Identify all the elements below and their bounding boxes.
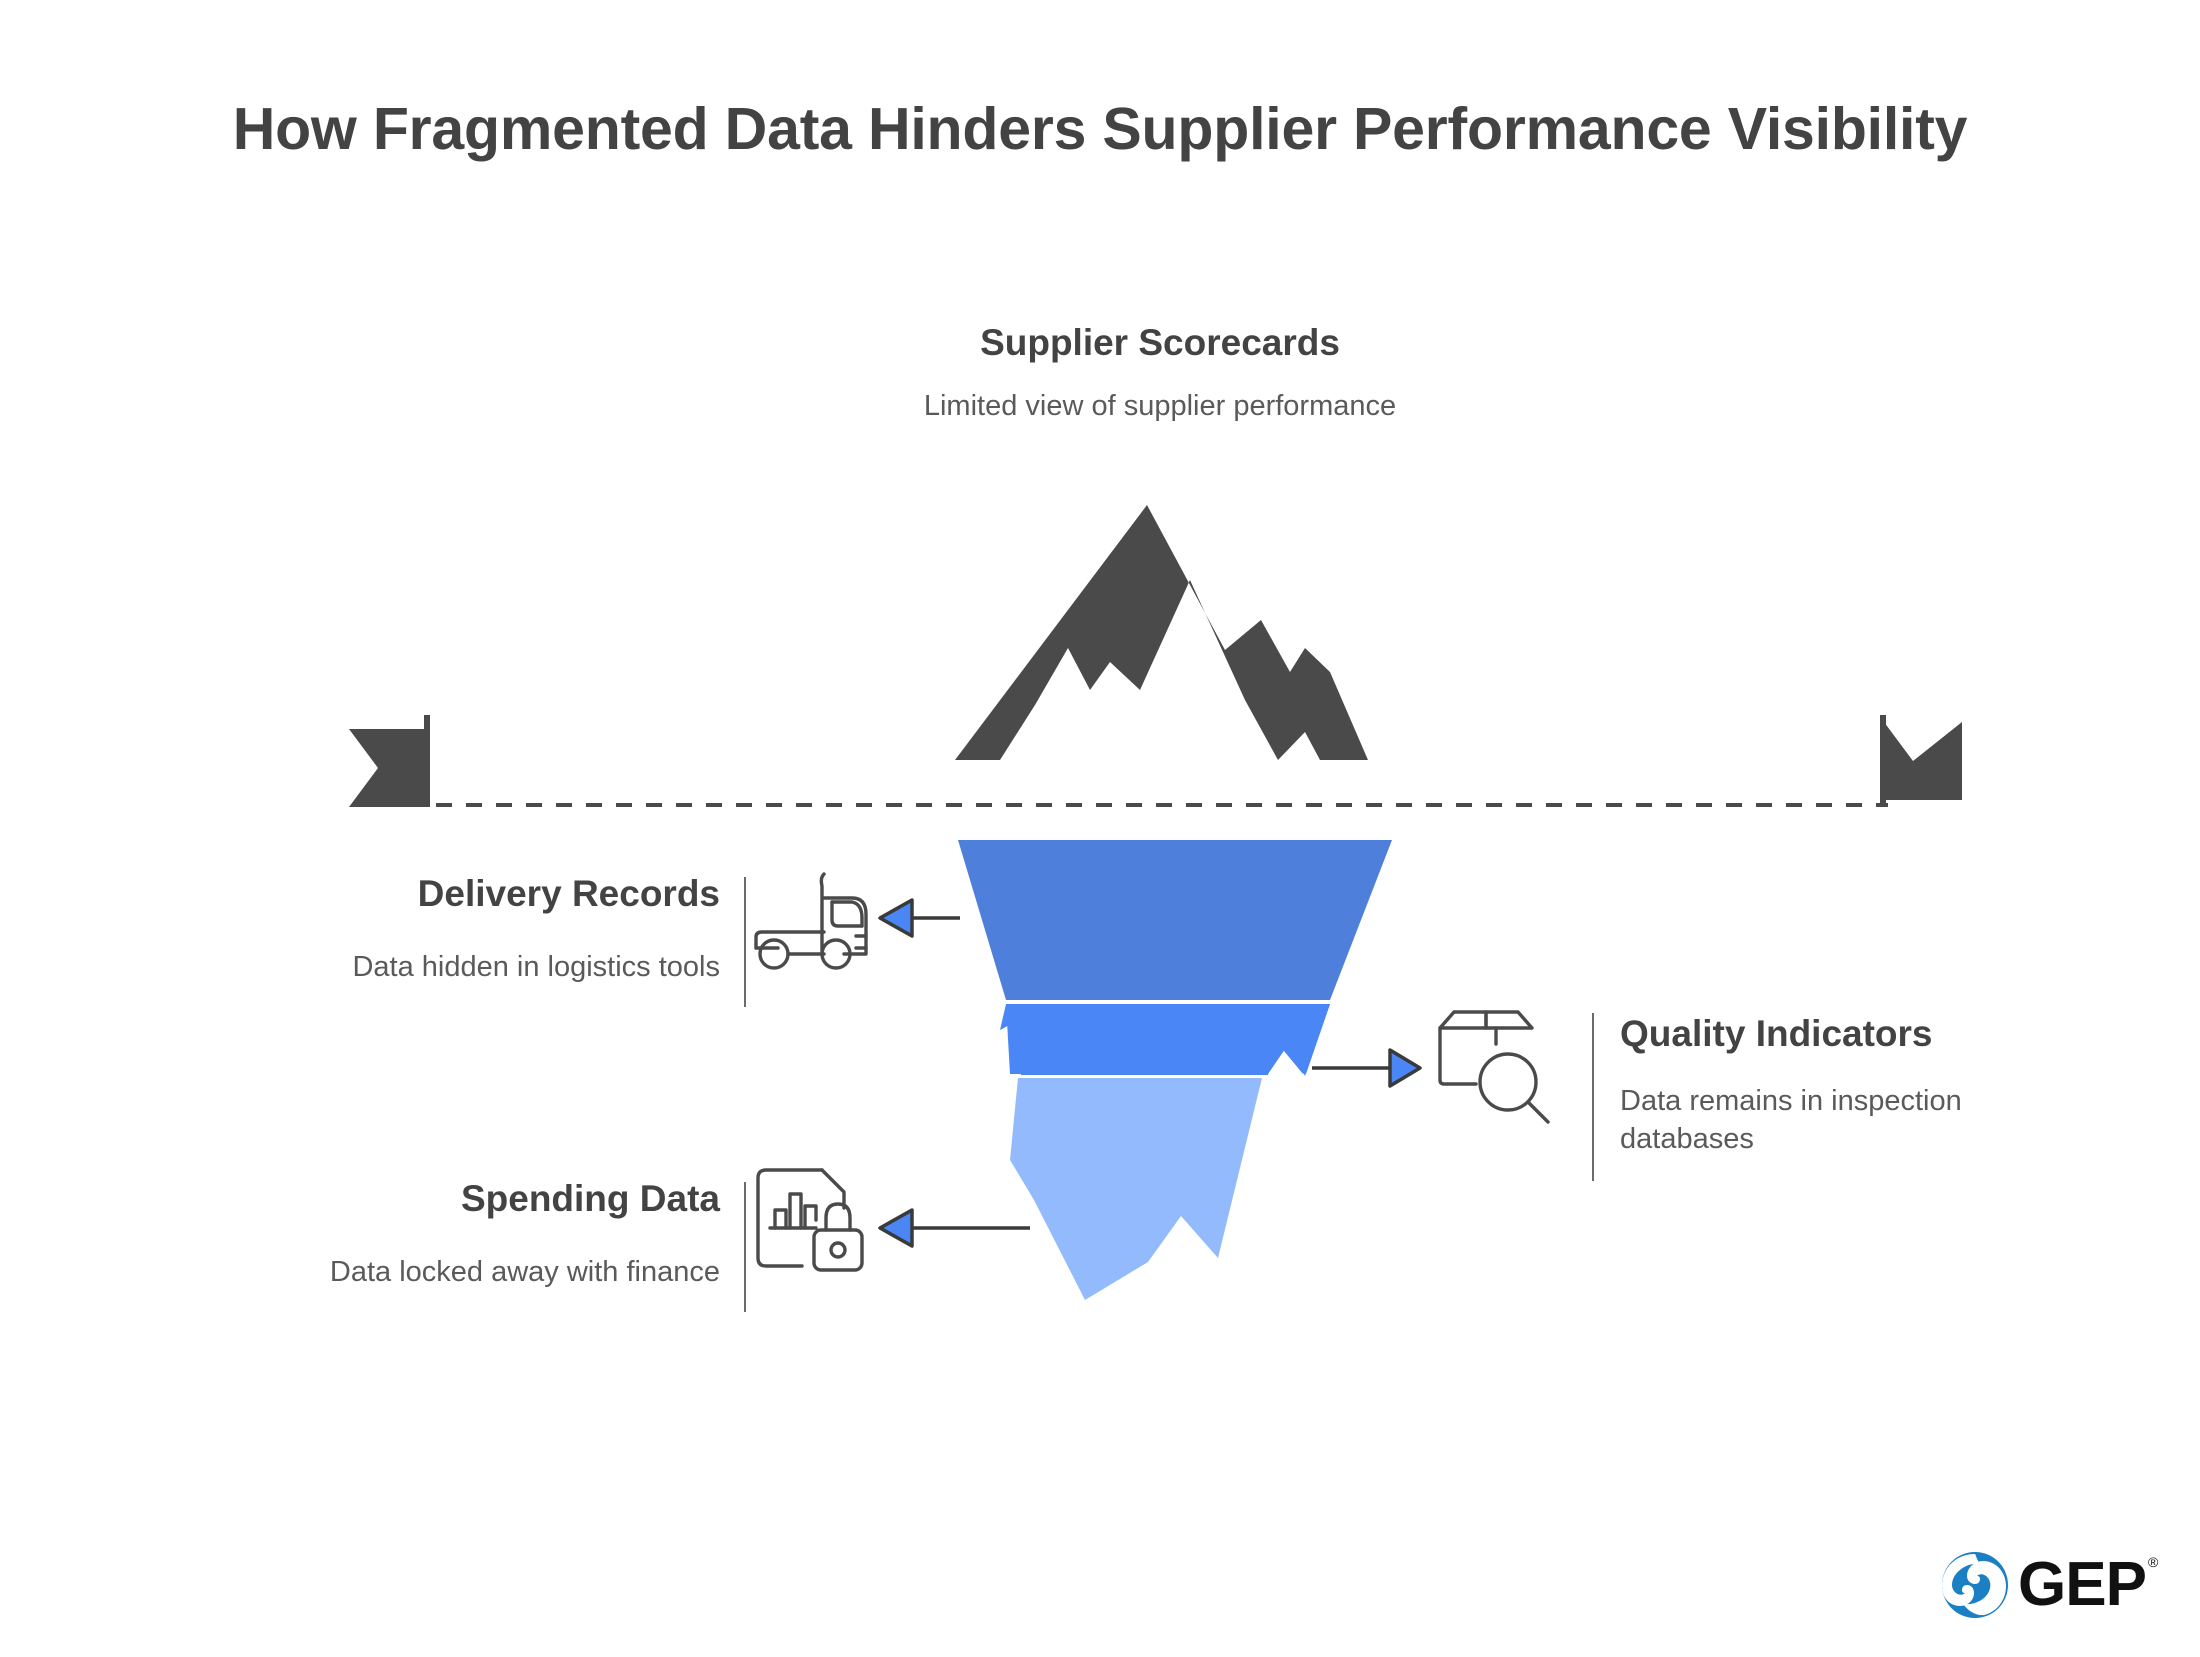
iceberg-band-delivery <box>958 840 1392 1000</box>
flag-right <box>1880 715 1962 807</box>
delivery-divider <box>744 877 746 1007</box>
document-lock-icon <box>748 1162 898 1302</box>
iceberg-band-spending <box>1010 1078 1262 1300</box>
iceberg-band-quality <box>1006 1004 1330 1074</box>
iceberg-band-quality-shape <box>1006 1004 1330 1074</box>
truck-icon <box>748 862 898 997</box>
box-search-icon <box>1432 1000 1582 1145</box>
flag-left <box>349 715 430 807</box>
supplier-scorecards-description: Limited view of supplier performance <box>810 387 1510 425</box>
gep-wordmark: GEP <box>2018 1554 2146 1616</box>
page-title: How Fragmented Data Hinders Supplier Per… <box>0 95 2200 163</box>
label-supplier-scorecards: Supplier Scorecards Limited view of supp… <box>810 322 1510 425</box>
label-delivery-records: Delivery Records Data hidden in logistic… <box>200 873 720 986</box>
spending-data-description: Data locked away with finance <box>200 1253 720 1291</box>
mountain-icon <box>955 505 1368 760</box>
label-quality-indicators: Quality Indicators Data remains in inspe… <box>1620 1013 2100 1158</box>
quality-indicators-description: Data remains in inspection databases <box>1620 1082 2100 1159</box>
label-spending-data: Spending Data Data locked away with fina… <box>200 1178 720 1291</box>
gep-swirl-icon <box>1938 1548 2012 1622</box>
delivery-records-title: Delivery Records <box>200 873 720 916</box>
arrow-spending <box>880 1210 1030 1246</box>
infographic-canvas: How Fragmented Data Hinders Supplier Per… <box>0 0 2200 1657</box>
gep-logo: GEP ® <box>1938 1548 2158 1622</box>
spending-data-title: Spending Data <box>200 1178 720 1221</box>
iceberg-graphic <box>0 0 2200 1657</box>
arrow-quality <box>1312 1050 1420 1086</box>
iceberg-band-middle <box>1000 1004 1330 1076</box>
quality-indicators-title: Quality Indicators <box>1620 1013 2100 1056</box>
delivery-records-description: Data hidden in logistics tools <box>200 948 720 986</box>
spending-divider <box>744 1182 746 1312</box>
quality-divider <box>1592 1013 1594 1181</box>
supplier-scorecards-title: Supplier Scorecards <box>810 322 1510 365</box>
gep-trademark: ® <box>2148 1554 2158 1570</box>
